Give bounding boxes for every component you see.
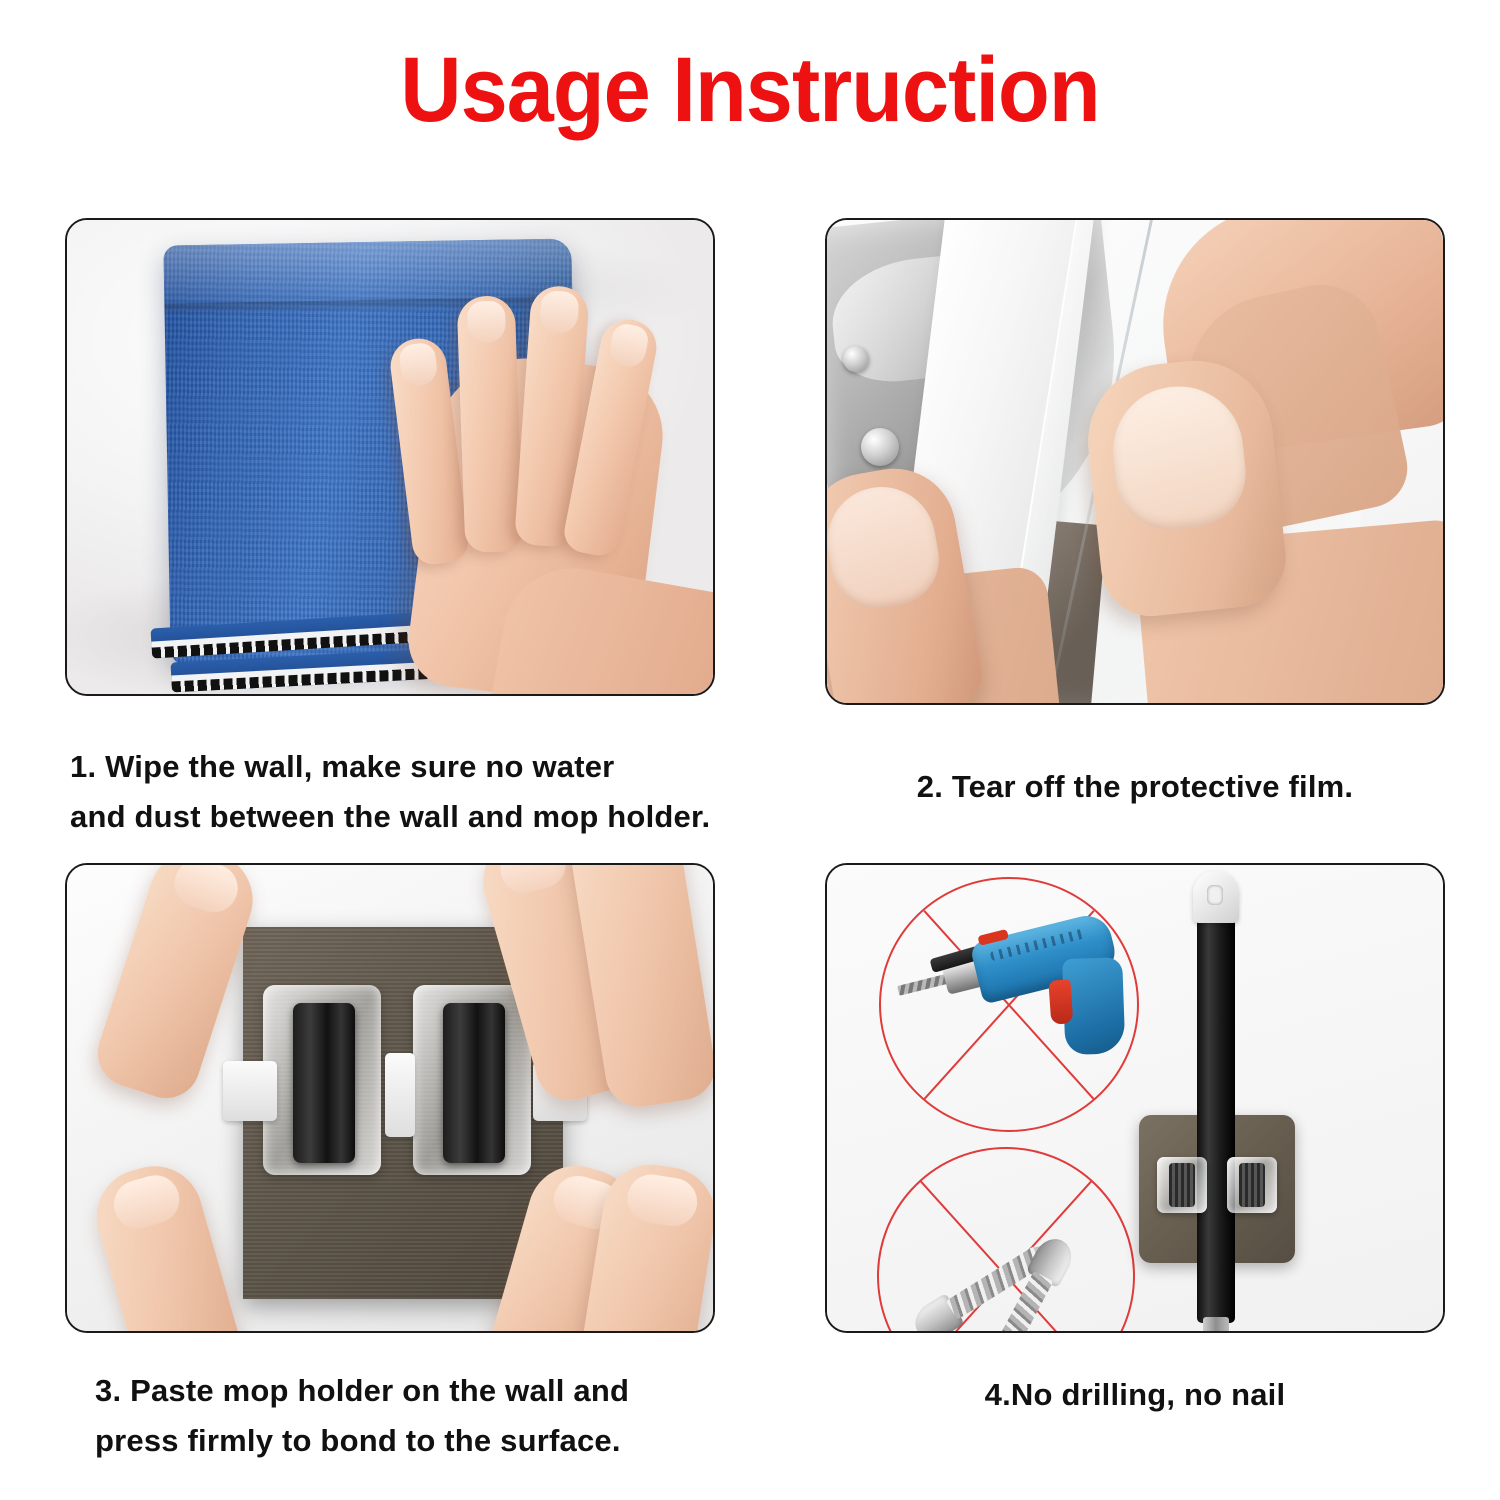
mop-handle-lower-shaft [1203,1317,1229,1333]
step-4-image-panel [825,863,1445,1333]
step-1-image-panel [65,218,715,696]
hand-icon [295,248,715,696]
step-2-caption: 2. Tear off the protective film. [825,762,1445,812]
page-title: Usage Instruction [60,42,1440,139]
step-3-caption: 3. Paste mop holder on the wall and pres… [95,1366,715,1466]
scene-paste-holder [67,865,713,1331]
holder-gripper-left [1157,1157,1207,1213]
mop-handle-icon [1197,905,1235,1323]
scene-tear-film [827,220,1443,703]
step-3-image-panel [65,863,715,1333]
step-4-caption: 4.No drilling, no nail [825,1370,1445,1420]
step-1-caption: 1. Wipe the wall, make sure no water and… [70,742,770,842]
usage-instruction-infographic: Usage Instruction [0,0,1500,1500]
right-hand-icon [1053,218,1445,705]
mop-handle-cap [1193,871,1239,923]
hook-stud [843,346,869,372]
scene-wipe-wall [67,220,713,694]
white-tab-left [223,1061,277,1121]
black-roller-left [293,1003,355,1163]
left-thumb [825,459,988,705]
step-2-image-panel [825,218,1445,705]
black-roller-right [443,1003,505,1163]
scene-no-drill-no-nail [827,865,1443,1331]
holder-gripper-right [1227,1157,1277,1213]
right-thumb [1080,353,1290,621]
white-tab-center [385,1053,415,1137]
drill-trigger [1048,979,1073,1024]
finger-middle [457,295,524,553]
